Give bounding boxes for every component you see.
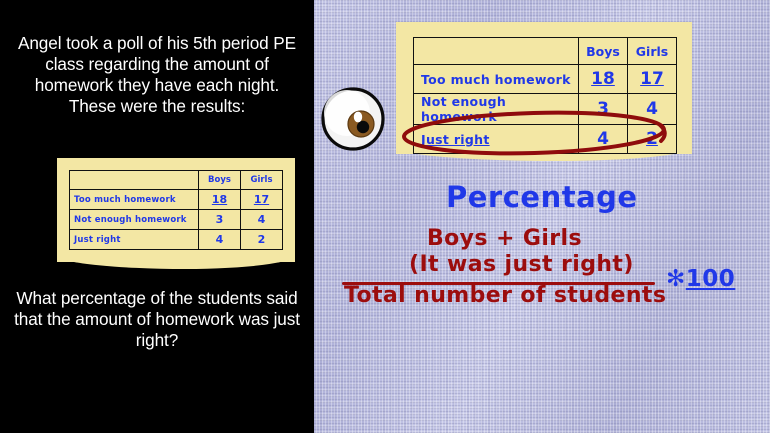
header-cell-boys: Boys (199, 171, 241, 190)
cell-too-much-boys: 18 (579, 65, 628, 94)
poll-results-table-small: Boys Girls Too much homework 18 17 Not e… (69, 170, 283, 250)
cell-not-enough-girls: 4 (241, 210, 283, 230)
header-cell-blank (70, 171, 199, 190)
table-row: Not enough homework 3 4 (414, 94, 677, 125)
formula-denominator: Total number of students (344, 283, 666, 308)
sticky-note-large: Boys Girls Too much homework 18 17 Not e… (396, 22, 692, 154)
table-header-row: Boys Girls (70, 171, 283, 190)
cell-just-right-girls: 2 (241, 230, 283, 250)
row-label-just-right: Just right (414, 125, 579, 154)
cell-just-right-boys: 4 (579, 125, 628, 154)
eyeball-icon (320, 86, 386, 152)
cell-too-much-girls: 17 (628, 65, 677, 94)
table-row: Too much homework 18 17 (414, 65, 677, 94)
formula-title: Percentage (446, 180, 638, 214)
cell-just-right-boys: 4 (199, 230, 241, 250)
formula-numerator-line-1: Boys + Girls (427, 226, 582, 251)
header-cell-boys: Boys (579, 38, 628, 65)
multiply-by-100: ✻100 (666, 266, 735, 292)
cell-not-enough-girls: 4 (628, 94, 677, 125)
cell-just-right-girls: 2 (628, 125, 677, 154)
cell-too-much-boys: 18 (199, 190, 241, 210)
table-row: Just right 4 2 (70, 230, 283, 250)
cell-not-enough-boys: 3 (579, 94, 628, 125)
slide-canvas: Angel took a poll of his 5th period PE c… (0, 0, 770, 433)
table-header-row: Boys Girls (414, 38, 677, 65)
table-row: Not enough homework 3 4 (70, 210, 283, 230)
table-row: Just right 4 2 (414, 125, 677, 154)
formula-numerator-line-2: (It was just right) (409, 252, 634, 277)
row-label-not-enough: Not enough homework (414, 94, 579, 125)
table-row: Too much homework 18 17 (70, 190, 283, 210)
row-label-not-enough: Not enough homework (70, 210, 199, 230)
multiplier-value: 100 (686, 266, 736, 292)
cell-not-enough-boys: 3 (199, 210, 241, 230)
header-cell-girls: Girls (241, 171, 283, 190)
intro-text: Angel took a poll of his 5th period PE c… (14, 33, 300, 117)
cell-too-much-girls: 17 (241, 190, 283, 210)
row-label-just-right: Just right (70, 230, 199, 250)
poll-results-table-large: Boys Girls Too much homework 18 17 Not e… (413, 37, 677, 154)
asterisk-icon: ✻ (666, 266, 686, 292)
sticky-note-small: Boys Girls Too much homework 18 17 Not e… (57, 158, 295, 262)
row-label-too-much: Too much homework (70, 190, 199, 210)
question-text: What percentage of the students said tha… (14, 288, 300, 351)
row-label-too-much: Too much homework (414, 65, 579, 94)
header-cell-blank (414, 38, 579, 65)
header-cell-girls: Girls (628, 38, 677, 65)
